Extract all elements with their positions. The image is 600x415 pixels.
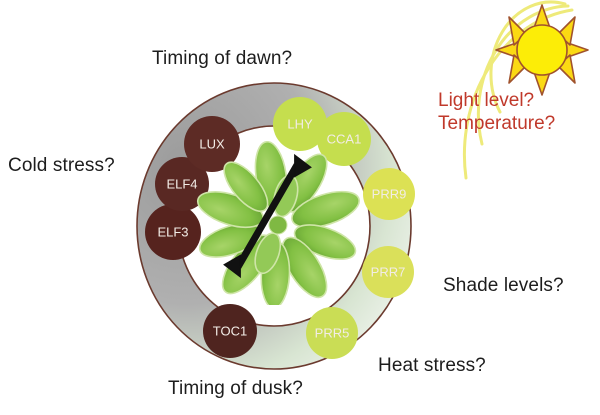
sun-icon (494, 4, 590, 96)
gene-node-prr7[interactable]: PRR7 (362, 246, 414, 298)
label-cold-stress: Cold stress? (8, 155, 115, 177)
label-timing-of-dusk: Timing of dusk? (168, 378, 303, 400)
arabidopsis-rosette-image (196, 141, 360, 305)
gene-node-prr9[interactable]: PRR9 (363, 168, 415, 220)
label-timing-of-dawn: Timing of dawn? (152, 48, 292, 70)
gene-label-prr7: PRR7 (371, 264, 406, 279)
gene-label-prr5: PRR5 (315, 325, 350, 340)
gene-node-toc1[interactable]: TOC1 (203, 304, 257, 358)
label-shade-levels: Shade levels? (443, 275, 564, 297)
label-temperature: Temperature? (438, 113, 555, 135)
label-light-level: Light level? (438, 90, 534, 112)
figure-canvas: LHYCCA1PRR9PRR7PRR5TOC1ELF3ELF4LUX (0, 0, 600, 415)
gene-node-prr5[interactable]: PRR5 (306, 307, 358, 359)
gene-label-toc1: TOC1 (213, 323, 247, 338)
gene-label-prr9: PRR9 (372, 186, 407, 201)
gene-label-lhy: LHY (287, 116, 313, 131)
gene-label-elf4: ELF4 (166, 176, 197, 191)
gene-label-elf3: ELF3 (157, 224, 188, 239)
gene-node-elf3[interactable]: ELF3 (145, 204, 201, 260)
label-heat-stress: Heat stress? (378, 355, 486, 377)
